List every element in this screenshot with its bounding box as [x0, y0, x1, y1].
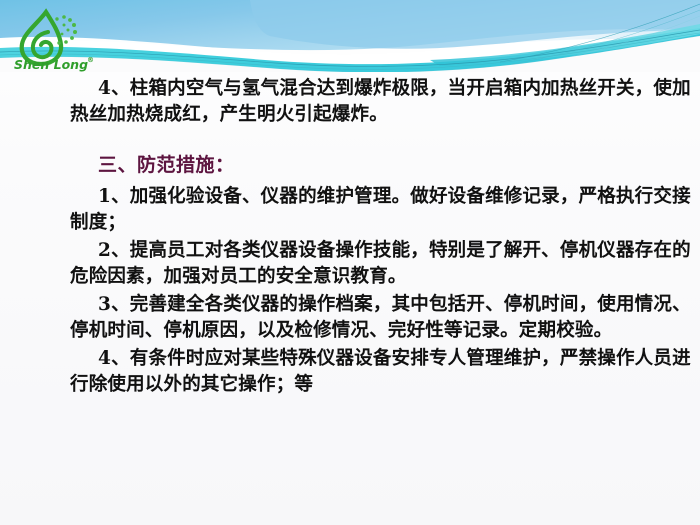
water-drop-leaf-logo: Shen Long ® [8, 6, 104, 72]
paragraph-measure-1: 1、加强化验设备、仪器的维护管理。做好设备维修记录，严格执行交接制度； [0, 184, 700, 236]
presentation-slide: Shen Long ® 4、柱箱内空气与氢气混合达到爆炸极限，当开启箱内加热丝开… [0, 0, 700, 525]
slide-body: 4、柱箱内空气与氢气混合达到爆炸极限，当开启箱内加热丝开关，使加热丝加热烧成红，… [0, 74, 700, 398]
spacer [0, 128, 700, 152]
wave-graphic [0, 0, 700, 72]
logo-registered-mark: ® [87, 56, 94, 64]
paragraph-measure-2: 2、提高员工对各类仪器设备操作技能，特别是了解开、停机仪器存在的危险因素，加强对… [0, 238, 700, 290]
drop-swirl [33, 32, 52, 57]
decorative-wave-banner [0, 0, 700, 72]
paragraph-item-4-top: 4、柱箱内空气与氢气混合达到爆炸极限，当开启箱内加热丝开关，使加热丝加热烧成红，… [0, 76, 700, 128]
brand-logo: Shen Long ® [8, 6, 104, 72]
paragraph-measure-3: 3、完善建全各类仪器的操作档案，其中包括开、停机时间，使用情况、停机时间、停机原… [0, 292, 700, 344]
section-heading: 三、防范措施： [0, 152, 700, 178]
logo-wordmark: Shen Long [14, 57, 88, 72]
paragraph-measure-4: 4、有条件时应对某些特殊仪器设备安排专人管理维护，严禁操作人员进行除使用以外的其… [0, 346, 700, 398]
